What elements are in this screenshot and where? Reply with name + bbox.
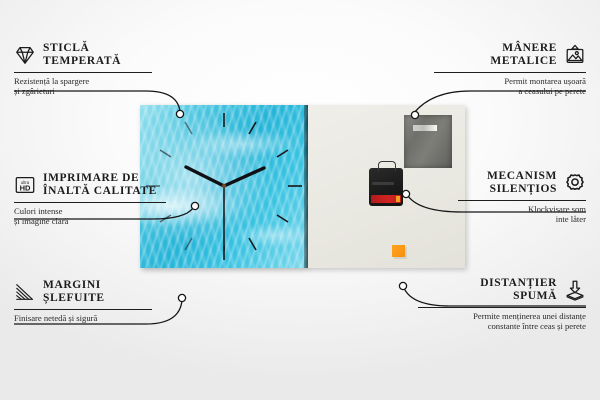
connector-dot-handles (411, 111, 418, 118)
title-line-1: MÂNERE (490, 42, 557, 55)
feature-desc: Permite menținerea unei distanțe constan… (386, 311, 586, 332)
title-line-1: IMPRIMARE DE (43, 172, 157, 185)
feature-title: DISTANȚIER SPUMĂ (480, 277, 557, 303)
desc-line-2: a ceasului pe perete (386, 86, 586, 96)
desc-line-2: inte låter (386, 214, 586, 224)
gear-icon (564, 172, 586, 194)
feature-foam-spacer: DISTANȚIER SPUMĂ Permite menținerea unei… (386, 277, 586, 332)
divider (434, 72, 586, 73)
feature-title: IMPRIMARE DE ÎNALTĂ CALITATE (43, 172, 157, 198)
desc-line-2: și imagine clară (14, 216, 214, 226)
desc-line-1: Rezistență la spargere (14, 76, 214, 86)
desc-line-1: Klockvisare som (386, 204, 586, 214)
feature-title: MARGINI ȘLEFUITE (43, 279, 105, 305)
desc-line-2: și zgârieturi (14, 86, 214, 96)
feature-desc: Culori intense și imagine clară (14, 206, 214, 227)
feature-desc: Klockvisare som inte låter (386, 204, 586, 225)
hd-text: HD (20, 184, 31, 193)
divider (14, 72, 152, 73)
infographic-canvas: STICLĂ TEMPERATĂ Rezistență la spargere … (0, 0, 600, 400)
feature-metal-handles: MÂNERE METALICE Permit montarea ușoară a… (386, 42, 586, 97)
title-line-1: DISTANȚIER (480, 277, 557, 290)
feature-head: STICLĂ TEMPERATĂ (14, 42, 214, 68)
title-line-1: STICLĂ (43, 42, 121, 55)
feature-head: DISTANȚIER SPUMĂ (386, 277, 586, 303)
feature-silent-mechanism: MECANISM SILENȚIOS Klockvisare som inte … (386, 170, 586, 225)
feature-tempered-glass: STICLĂ TEMPERATĂ Rezistență la spargere … (14, 42, 214, 97)
title-line-2: SILENȚIOS (487, 183, 557, 196)
feature-title: MÂNERE METALICE (490, 42, 557, 68)
title-line-2: METALICE (490, 55, 557, 68)
feature-desc: Permit montarea ușoară a ceasului pe per… (386, 76, 586, 97)
feature-head: MÂNERE METALICE (386, 42, 586, 68)
feature-head: MARGINI ȘLEFUITE (14, 279, 214, 305)
desc-line-1: Permit montarea ușoară (386, 76, 586, 86)
feature-polished-edges: MARGINI ȘLEFUITE Finisare netedă și sigu… (14, 279, 214, 323)
connector-dot-glass (176, 110, 183, 117)
feature-title: STICLĂ TEMPERATĂ (43, 42, 121, 68)
diamond-icon (14, 44, 36, 66)
ultra-hd-icon: ultra HD (14, 174, 36, 196)
title-line-2: SPUMĂ (480, 290, 557, 303)
title-line-1: MARGINI (43, 279, 105, 292)
feature-head: MECANISM SILENȚIOS (386, 170, 586, 196)
beveled-edge-icon (14, 281, 36, 303)
desc-line-1: Permite menținerea unei distanțe (386, 311, 586, 321)
divider (14, 202, 166, 203)
desc-line-2: constante între ceas și perete (386, 321, 586, 331)
divider (14, 309, 152, 310)
feature-desc: Rezistență la spargere și zgârieturi (14, 76, 214, 97)
divider (458, 200, 586, 201)
foam-spacer-icon (564, 279, 586, 301)
feature-head: ultra HD IMPRIMARE DE ÎNALTĂ CALITATE (14, 172, 214, 198)
desc-line-1: Finisare netedă și sigură (14, 313, 214, 323)
desc-line-1: Culori intense (14, 206, 214, 216)
feature-hd-print: ultra HD IMPRIMARE DE ÎNALTĂ CALITATE Cu… (14, 172, 214, 227)
feature-title: MECANISM SILENȚIOS (487, 170, 557, 196)
title-line-2: TEMPERATĂ (43, 55, 121, 68)
title-line-2: ȘLEFUITE (43, 292, 105, 305)
title-line-2: ÎNALTĂ CALITATE (43, 185, 157, 198)
feature-desc: Finisare netedă și sigură (14, 313, 214, 323)
title-line-1: MECANISM (487, 170, 557, 183)
wall-mount-picture-icon (564, 44, 586, 66)
divider (418, 307, 586, 308)
